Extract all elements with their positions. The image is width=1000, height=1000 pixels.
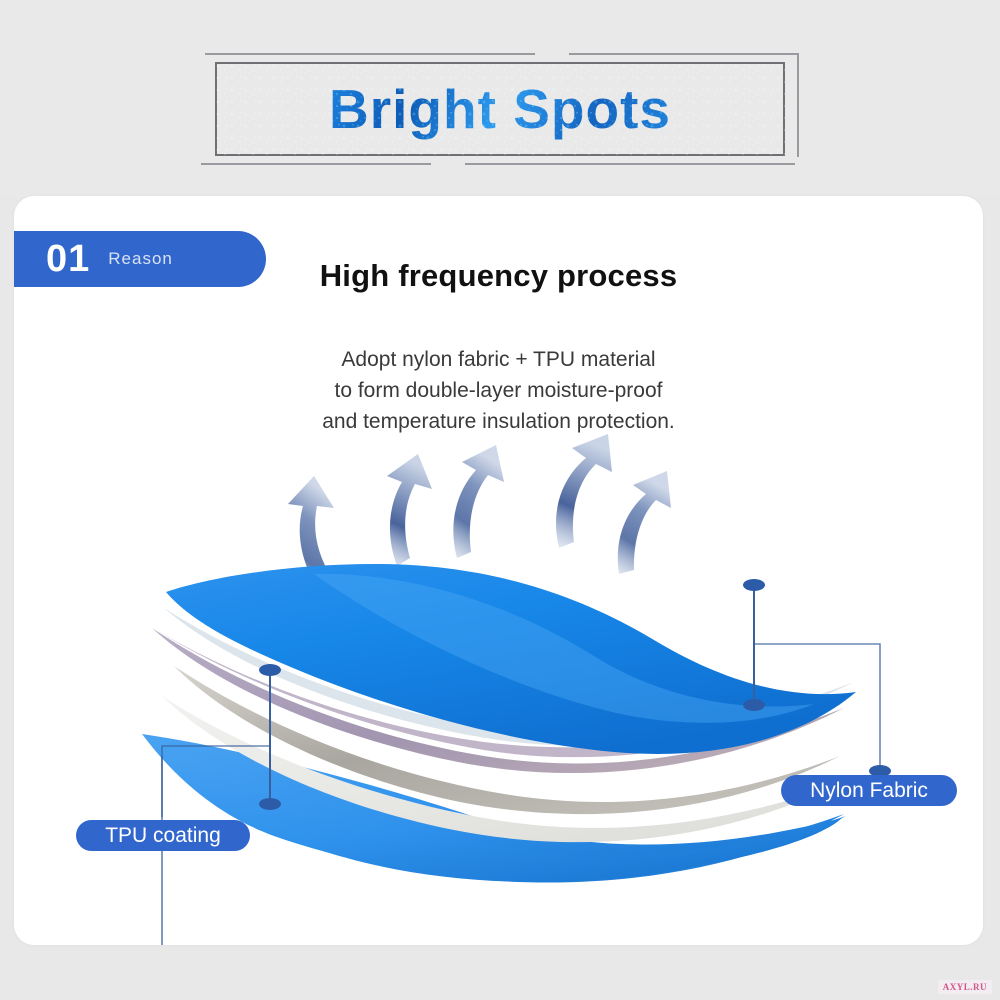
moisture-arrow-3 [453,445,504,558]
callout-label-nylon-fabric: Nylon Fabric [781,775,957,806]
callout-dot-right-lower [743,699,765,711]
frame-accent-right [797,53,799,157]
frame-accent-bottom-left [201,163,431,165]
moisture-arrow-5 [618,471,671,574]
frame-accent-top-left [205,53,535,55]
frame-accent-bottom-right [465,163,795,165]
moisture-arrow-2 [387,454,432,566]
moisture-arrow-4 [556,434,612,548]
callout-label-tpu-coating: TPU coating [76,820,250,851]
header-band: Bright Spots [0,0,1000,196]
callout-right-leader [754,586,880,771]
callout-dot-right-upper [743,579,765,591]
frame-accent-top-right [569,53,799,55]
callout-dot-left-lower [259,798,281,810]
site-watermark: AXYL.RU [938,980,992,994]
page-title: Bright Spots [215,63,785,155]
callout-dot-left-upper [259,664,281,676]
